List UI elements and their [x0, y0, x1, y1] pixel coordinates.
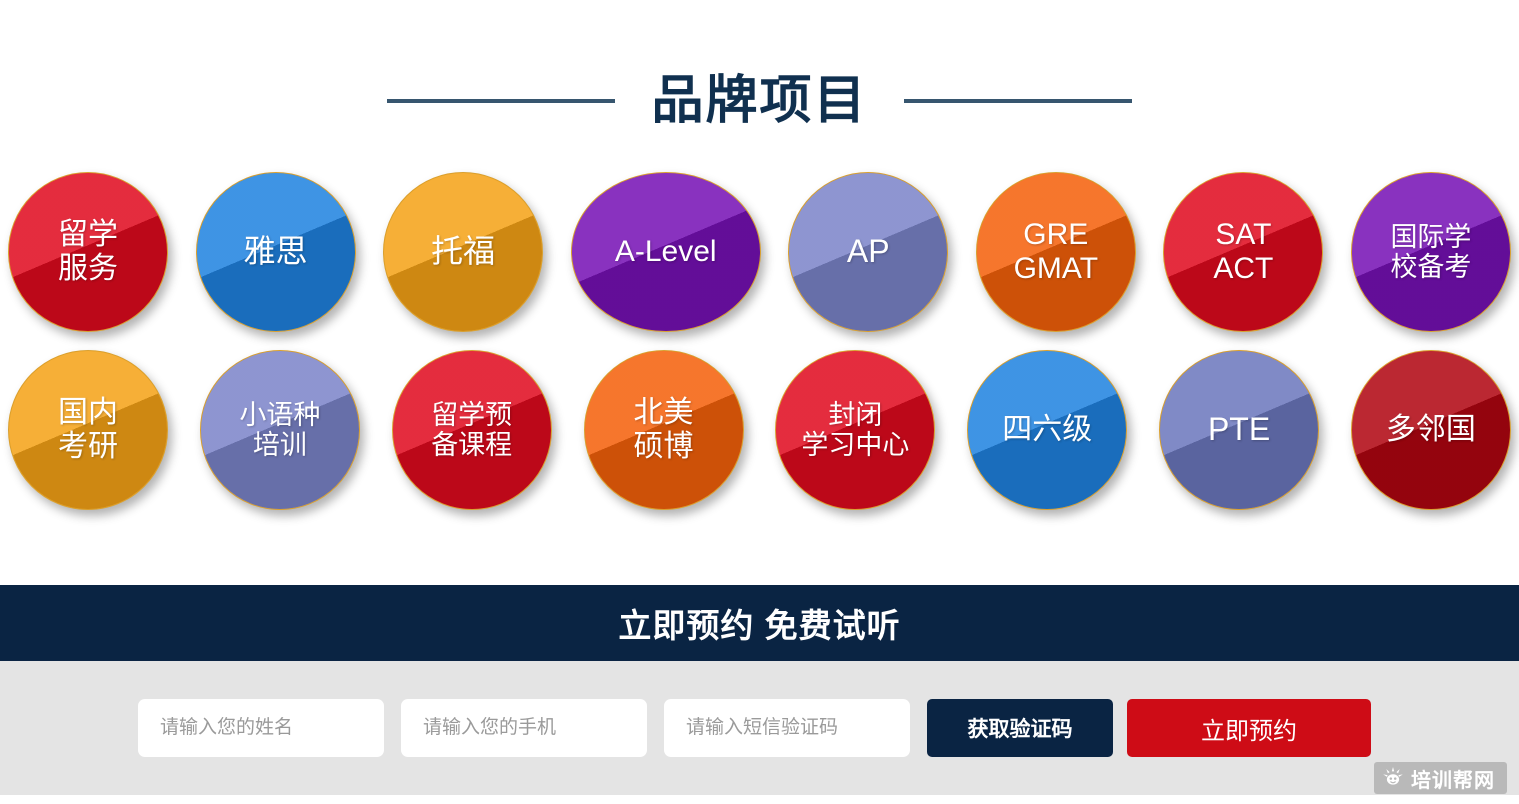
- program-bubble-toefl[interactable]: 托福: [383, 172, 543, 332]
- program-bubble-closed-study-center[interactable]: 封闭 学习中心: [775, 350, 935, 510]
- program-grid: 留学 服务雅思托福A-LevelAPGRE GMATSAT ACT国际学 校备考…: [0, 172, 1519, 528]
- submit-booking-button[interactable]: 立即预约: [1127, 699, 1371, 757]
- program-bubble-ap[interactable]: AP: [788, 172, 948, 332]
- program-bubble-label: 多邻国: [1384, 413, 1478, 447]
- program-bubble-label: 留学 服务: [56, 218, 120, 285]
- program-bubble-label: 雅思: [242, 234, 310, 270]
- program-bubble-north-america-master-phd[interactable]: 北美 硕博: [584, 350, 744, 510]
- program-row-1: 留学 服务雅思托福A-LevelAPGRE GMATSAT ACT国际学 校备考: [0, 172, 1519, 332]
- program-bubble-study-abroad-service[interactable]: 留学 服务: [8, 172, 168, 332]
- phone-input[interactable]: [401, 699, 647, 757]
- page-title: 品牌项目: [651, 75, 867, 127]
- program-bubble-pte[interactable]: PTE: [1159, 350, 1319, 510]
- program-bubble-label: 封闭 学习中心: [799, 400, 911, 460]
- title-rule-left: [387, 99, 615, 103]
- program-bubble-label: SAT ACT: [1211, 218, 1275, 285]
- watermark-label: 培训帮网: [1411, 764, 1495, 793]
- program-bubble-gre-gmat[interactable]: GRE GMAT: [976, 172, 1136, 332]
- program-bubble-label: PTE: [1206, 412, 1272, 448]
- program-bubble-ielts[interactable]: 雅思: [196, 172, 356, 332]
- program-bubble-minor-language-training[interactable]: 小语种 培训: [200, 350, 360, 510]
- program-bubble-label: 托福: [429, 234, 497, 270]
- program-row-2: 国内 考研小语种 培训留学预 备课程北美 硕博封闭 学习中心四六级PTE多邻国: [0, 350, 1519, 510]
- program-bubble-study-abroad-prep-course[interactable]: 留学预 备课程: [392, 350, 552, 510]
- program-bubble-label: 四六级: [1000, 413, 1094, 447]
- section-title-row: 品牌项目: [0, 60, 1519, 142]
- booking-form: 获取验证码 立即预约: [138, 699, 1371, 757]
- program-bubble-label: AP: [845, 234, 892, 270]
- sms-code-input[interactable]: [664, 699, 910, 757]
- program-bubble-label: GRE GMAT: [1012, 218, 1100, 285]
- site-watermark: 培训帮网: [1374, 762, 1507, 794]
- program-bubble-label: 国际学 校备考: [1388, 222, 1473, 282]
- program-bubble-cet-4-6[interactable]: 四六级: [967, 350, 1127, 510]
- cta-banner: 立即预约 免费试听: [0, 585, 1519, 661]
- program-bubble-a-level[interactable]: A-Level: [571, 172, 761, 332]
- face-sun-icon: [1382, 766, 1404, 791]
- program-bubble-duolingo[interactable]: 多邻国: [1351, 350, 1511, 510]
- program-bubble-label: 小语种 培训: [237, 400, 322, 460]
- program-bubble-label: A-Level: [613, 235, 719, 269]
- title-rule-right: [904, 99, 1132, 103]
- program-bubble-label: 留学预 备课程: [429, 400, 514, 460]
- name-input[interactable]: [138, 699, 384, 757]
- program-bubble-sat-act[interactable]: SAT ACT: [1163, 172, 1323, 332]
- program-bubble-domestic-postgrad-exam[interactable]: 国内 考研: [8, 350, 168, 510]
- get-sms-code-button[interactable]: 获取验证码: [927, 699, 1113, 757]
- cta-banner-text: 立即预约 免费试听: [618, 599, 900, 647]
- bottom-spacer: [0, 795, 1519, 804]
- booking-form-strip: 获取验证码 立即预约: [0, 661, 1519, 795]
- program-bubble-label: 北美 硕博: [632, 396, 696, 463]
- program-bubble-label: 国内 考研: [56, 396, 120, 463]
- program-bubble-intl-school-prep[interactable]: 国际学 校备考: [1351, 172, 1511, 332]
